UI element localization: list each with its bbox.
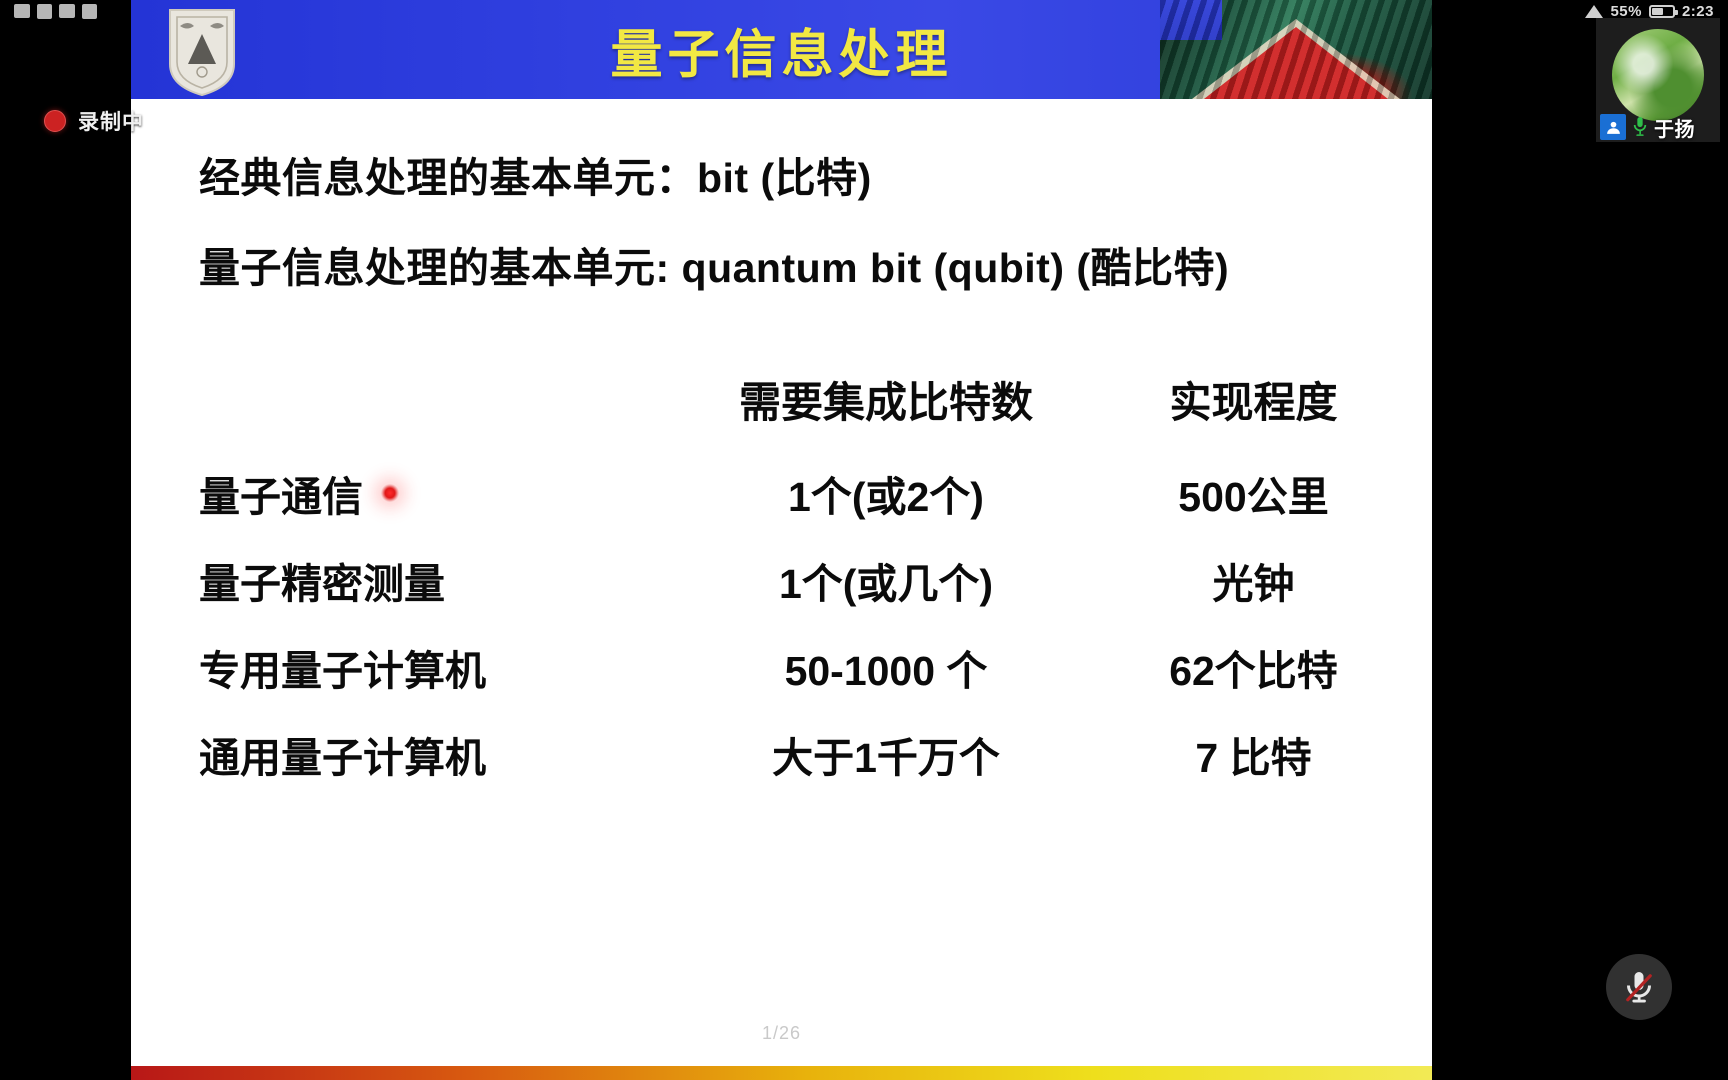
row-label: 量子精密测量 xyxy=(131,550,671,610)
slide-banner: 量子信息处理 xyxy=(131,0,1432,99)
participant-thumbnail[interactable]: 于扬 xyxy=(1596,18,1720,142)
row-label-text: 量子精密测量 xyxy=(199,550,445,610)
wifi-signal-icon xyxy=(1585,5,1603,18)
row-label-text: 专用量子计算机 xyxy=(199,637,486,697)
row-label: 通用量子计算机 xyxy=(131,724,671,784)
row-label-text: 通用量子计算机 xyxy=(199,724,486,784)
table-header-row: 需要集成比特数 实现程度 xyxy=(131,349,1432,449)
status-bar-left xyxy=(14,4,97,19)
row-progress: 62个比特 xyxy=(1101,637,1432,697)
mute-toggle-button[interactable] xyxy=(1606,954,1672,1020)
participant-name: 于扬 xyxy=(1654,113,1695,142)
app-icon xyxy=(82,4,97,19)
table-row: 通用量子计算机 大于1千万个 7 比特 xyxy=(131,710,1432,797)
screen-root: 55% 2:23 录制中 量子信息处理 xyxy=(0,0,1728,1080)
shared-slide[interactable]: 量子信息处理 经典信息处理的基本单元：bit (比特) 量子信息处理的基本单元:… xyxy=(131,0,1432,1080)
table-row: 量子通信 1个(或2个) 500公里 xyxy=(131,449,1432,536)
slide-footer-bar xyxy=(131,1066,1432,1080)
battery-percent-label: 55% xyxy=(1610,3,1642,20)
avatar xyxy=(1612,29,1704,121)
row-qubits: 50-1000 个 xyxy=(671,637,1101,697)
row-qubits: 1个(或几个) xyxy=(671,550,1101,610)
wifi-icon xyxy=(37,4,52,19)
row-progress: 光钟 xyxy=(1101,550,1432,610)
row-label: 量子通信 xyxy=(131,463,671,523)
temple-photo xyxy=(1160,0,1432,99)
row-label-text: 量子通信 xyxy=(199,463,363,523)
participant-info-bar: 于扬 xyxy=(1596,112,1720,142)
laser-pointer-icon xyxy=(381,484,399,502)
person-icon xyxy=(1600,114,1626,140)
table-row: 专用量子计算机 50-1000 个 62个比特 xyxy=(131,623,1432,710)
slide-body: 经典信息处理的基本单元：bit (比特) 量子信息处理的基本单元: quantu… xyxy=(131,99,1432,1066)
lead-line-1: 经典信息处理的基本单元：bit (比特) xyxy=(199,144,872,204)
row-qubits: 1个(或2个) xyxy=(671,463,1101,523)
status-bar-right: 55% 2:23 xyxy=(1585,3,1714,20)
row-progress: 500公里 xyxy=(1101,463,1432,523)
university-crest-icon xyxy=(164,6,240,98)
microphone-icon xyxy=(1632,116,1648,138)
slide-page-number: 1/26 xyxy=(762,1023,801,1044)
record-dot-icon xyxy=(44,110,66,132)
battery-icon xyxy=(1649,5,1675,18)
clock-label: 2:23 xyxy=(1682,3,1714,20)
table-row: 量子精密测量 1个(或几个) 光钟 xyxy=(131,536,1432,623)
microphone-muted-icon xyxy=(1621,969,1657,1005)
recording-indicator: 录制中 xyxy=(44,106,144,136)
row-label: 专用量子计算机 xyxy=(131,637,671,697)
comparison-table: 需要集成比特数 实现程度 量子通信 1个(或2个) 500公里 量子精密测量 1… xyxy=(131,349,1432,797)
header-cell-progress: 实现程度 xyxy=(1101,369,1432,430)
header-cell-qubits: 需要集成比特数 xyxy=(671,369,1101,430)
cast-icon xyxy=(59,4,75,18)
lead-line-2: 量子信息处理的基本单元: quantum bit (qubit) (酷比特) xyxy=(199,234,1229,294)
row-qubits: 大于1千万个 xyxy=(671,724,1101,784)
row-progress: 7 比特 xyxy=(1101,724,1432,784)
recording-label: 录制中 xyxy=(78,106,144,136)
signal-icon xyxy=(14,4,30,18)
